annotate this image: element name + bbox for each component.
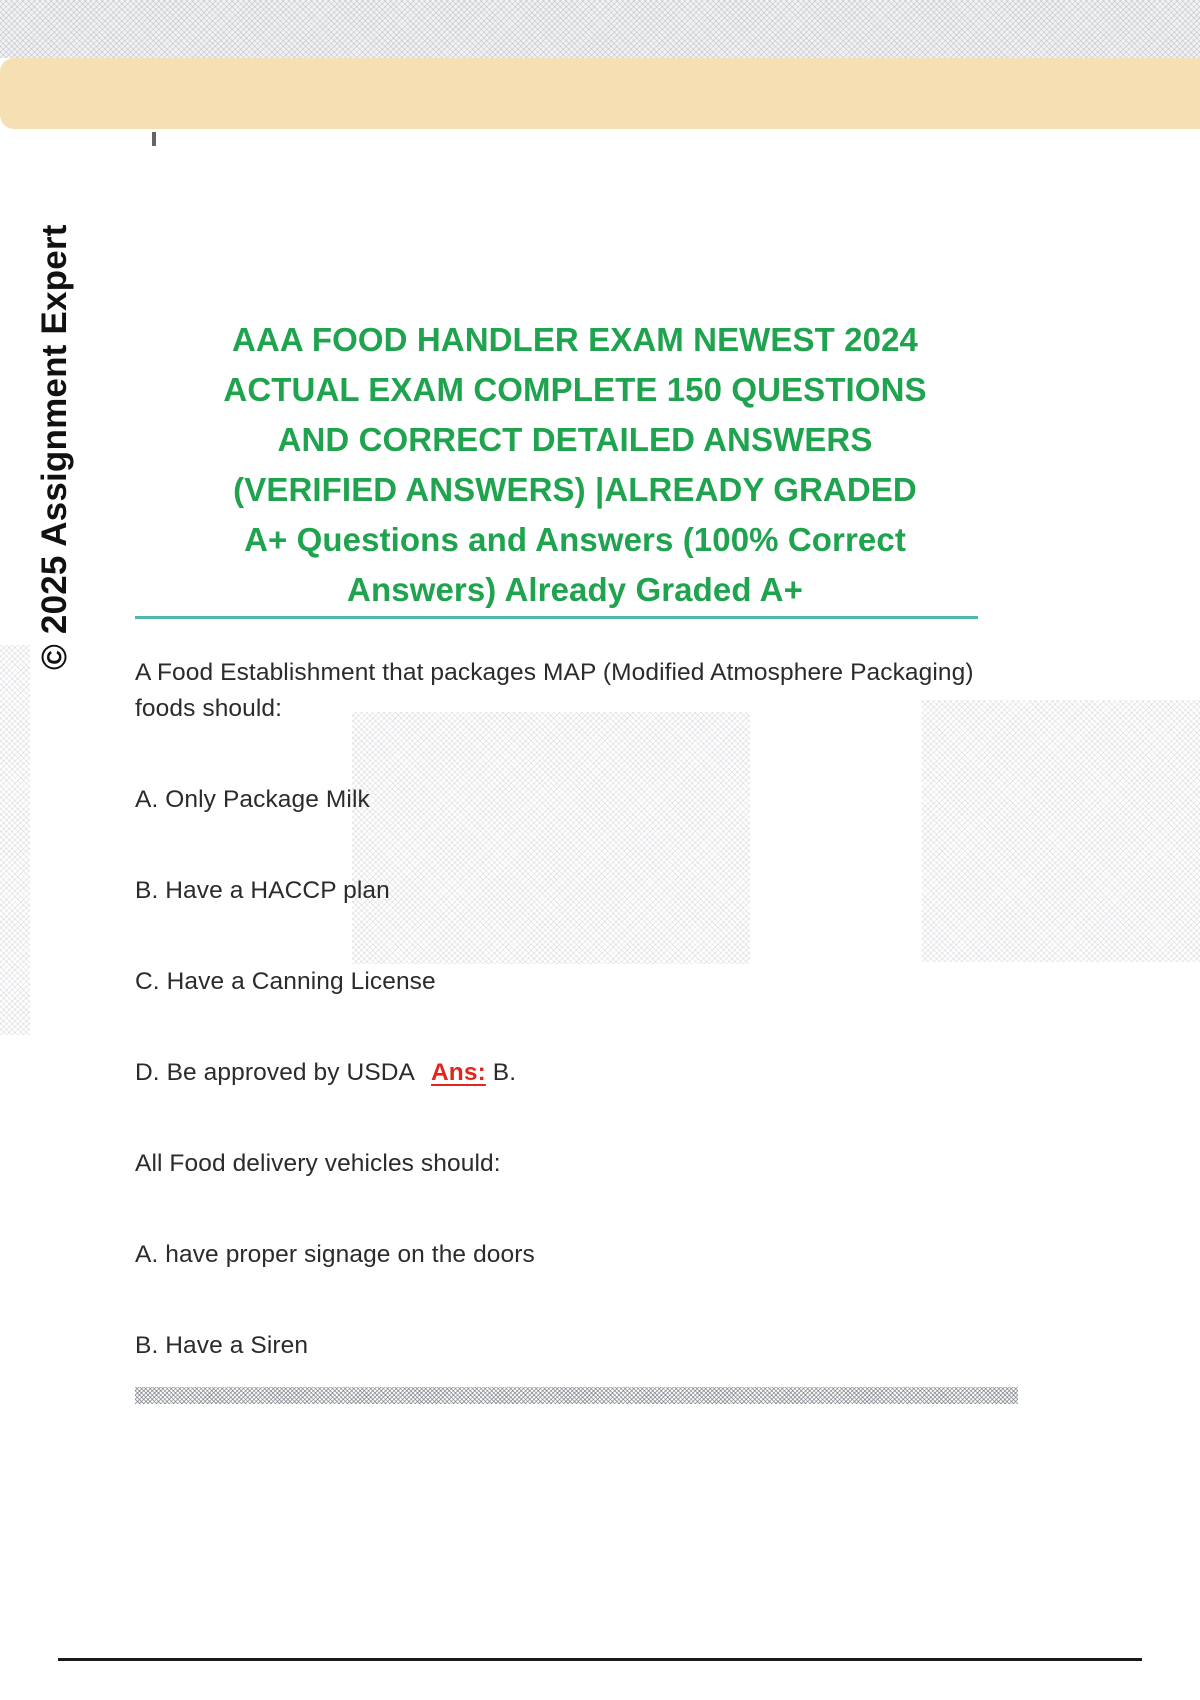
document-page: © 2025 Assignment Expert AAA FOOD HANDLE… [0,0,1200,1700]
question-2-option-b: B. Have a Siren [135,1328,1015,1364]
title-line: Answers) Already Graded A+ [135,565,1015,615]
question-1-option-c: C. Have a Canning License [135,964,1015,1000]
peach-banner [0,58,1200,129]
title-line: A+ Questions and Answers (100% Correct [135,515,1015,565]
text-cursor-mark [152,132,156,146]
bottom-hatch-strip [135,1387,1018,1404]
watermark-hatch-left [0,645,30,1035]
answer-value: B. [493,1059,516,1086]
question-1-option-d-row: D. Be approved by USDAAns: B. [135,1055,1015,1091]
side-copyright-watermark: © 2025 Assignment Expert [0,150,110,670]
title-line: (VERIFIED ANSWERS) |ALREADY GRADED [135,465,1015,515]
question-1-stem: A Food Establishment that packages MAP (… [135,655,1015,727]
page-bottom-rule [58,1658,1142,1661]
question-body: A Food Establishment that packages MAP (… [135,655,1015,1364]
question-1-option-b: B. Have a HACCP plan [135,873,1015,909]
title-line: AND CORRECT DETAILED ANSWERS [135,415,1015,465]
answer-label: Ans: [431,1059,486,1086]
question-2-stem: All Food delivery vehicles should: [135,1146,1015,1182]
question-1-option-a: A. Only Package Milk [135,782,1015,818]
title-divider-rule [135,616,978,619]
title-line: AAA FOOD HANDLER EXAM NEWEST 2024 [135,315,1015,365]
question-2-option-a: A. have proper signage on the doors [135,1237,1015,1273]
title-line: ACTUAL EXAM COMPLETE 150 QUESTIONS [135,365,1015,415]
question-1-option-d: D. Be approved by USDA [135,1059,415,1086]
page-title: AAA FOOD HANDLER EXAM NEWEST 2024 ACTUAL… [135,315,1015,615]
top-hatch-strip [0,0,1200,58]
